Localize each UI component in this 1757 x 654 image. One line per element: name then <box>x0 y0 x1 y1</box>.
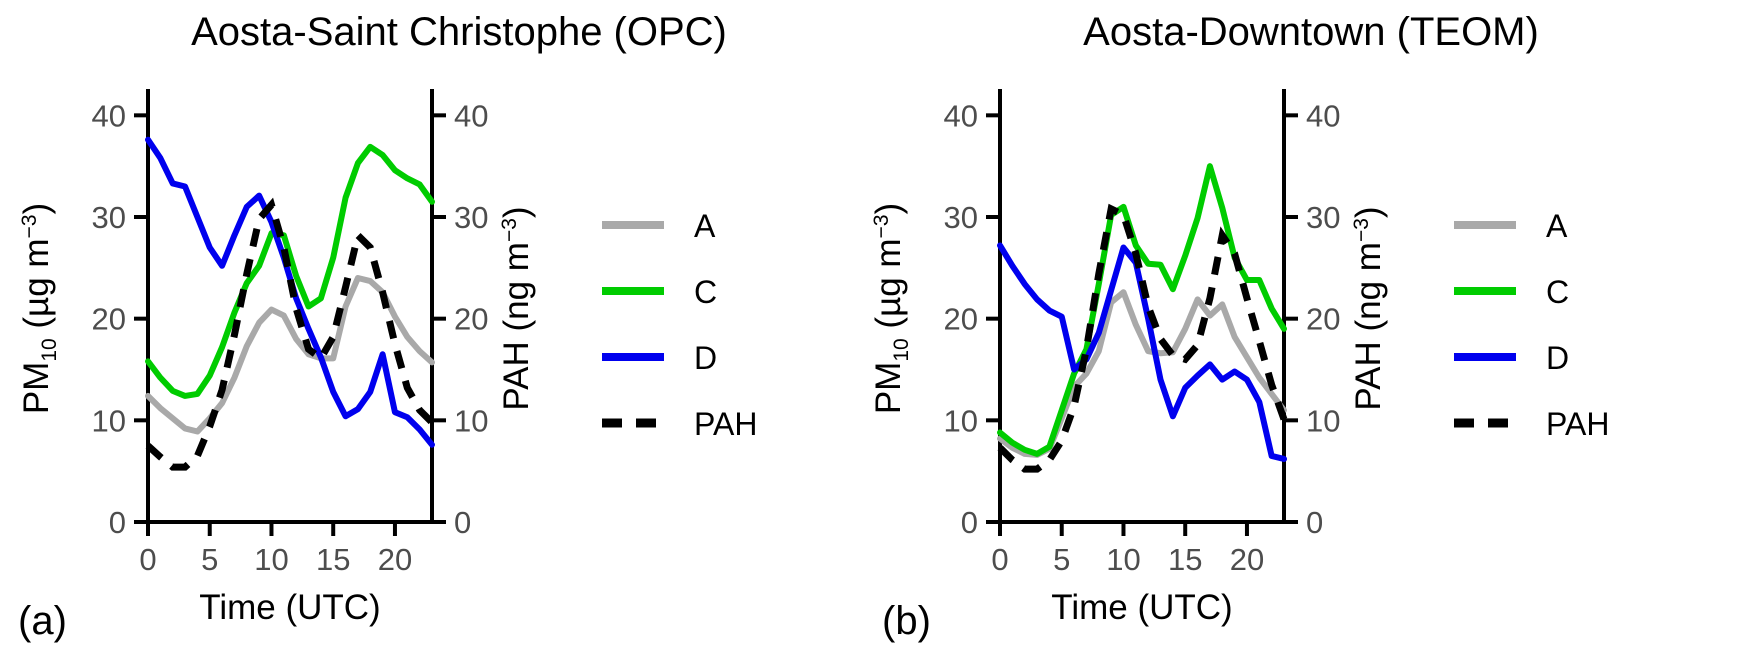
legend-label-A: A <box>1546 208 1568 244</box>
x-tick-label: 10 <box>1106 542 1140 577</box>
x-tick-label: 15 <box>1168 542 1202 577</box>
y-tick-label-right: 40 <box>1306 98 1340 133</box>
x-tick-label: 5 <box>201 542 218 577</box>
x-tick-label: 20 <box>1230 542 1264 577</box>
y-tick-label-right: 10 <box>1306 403 1340 438</box>
y-axis-title-right: PAH (ng m−3) <box>1349 206 1388 410</box>
y-tick-label-right: 0 <box>1306 505 1323 540</box>
y-tick-label-left: 10 <box>92 403 126 438</box>
legend-label-PAH: PAH <box>694 406 757 442</box>
x-tick-label: 0 <box>991 542 1008 577</box>
figure-container: Aosta-Saint Christophe (OPC) (a) 0010102… <box>0 0 1757 654</box>
y-tick-label-left: 30 <box>944 200 978 235</box>
y-tick-label-right: 30 <box>454 200 488 235</box>
x-tick-label: 20 <box>378 542 412 577</box>
panel-a-plot: 00101020203030404005101520Time (UTC)PM10… <box>0 0 878 654</box>
y-tick-label-left: 30 <box>92 200 126 235</box>
y-tick-label-left: 20 <box>92 302 126 337</box>
y-axis-title-right: PAH (ng m−3) <box>497 206 536 410</box>
x-axis-title: Time (UTC) <box>1051 588 1232 627</box>
x-axis-title: Time (UTC) <box>199 588 380 627</box>
y-tick-label-right: 20 <box>1306 302 1340 337</box>
svg-text:PM10 (µg m−3): PM10 (µg m−3) <box>872 203 913 414</box>
y-tick-label-left: 0 <box>961 505 978 540</box>
y-axis-title-left: PM10 (µg m−3) <box>17 203 61 414</box>
legend-label-PAH: PAH <box>1546 406 1609 442</box>
y-tick-label-right: 30 <box>1306 200 1340 235</box>
legend-label-D: D <box>694 340 717 376</box>
y-tick-label-left: 0 <box>109 505 126 540</box>
y-tick-label-right: 10 <box>454 403 488 438</box>
x-tick-label: 5 <box>1053 542 1070 577</box>
series-line-A <box>148 278 432 432</box>
chart-panel-b: Aosta-Downtown (TEOM) (b) 00101020203030… <box>872 0 1750 654</box>
y-tick-label-left: 20 <box>944 302 978 337</box>
legend-label-A: A <box>694 208 716 244</box>
svg-text:PAH (ng m−3): PAH (ng m−3) <box>497 206 536 410</box>
x-tick-label: 10 <box>254 542 288 577</box>
y-tick-label-left: 10 <box>944 403 978 438</box>
y-tick-label-left: 40 <box>92 98 126 133</box>
y-axis-title-left: PM10 (µg m−3) <box>872 203 913 414</box>
legend-label-C: C <box>694 274 717 310</box>
x-tick-label: 15 <box>316 542 350 577</box>
panel-b-plot: 00101020203030404005101520Time (UTC)PM10… <box>872 0 1750 654</box>
legend-label-C: C <box>1546 274 1569 310</box>
svg-text:PAH (ng m−3): PAH (ng m−3) <box>1349 206 1388 410</box>
y-tick-label-left: 40 <box>944 98 978 133</box>
x-tick-label: 0 <box>139 542 156 577</box>
y-tick-label-right: 0 <box>454 505 471 540</box>
y-tick-label-right: 20 <box>454 302 488 337</box>
y-tick-label-right: 40 <box>454 98 488 133</box>
legend-label-D: D <box>1546 340 1569 376</box>
svg-text:PM10 (µg m−3): PM10 (µg m−3) <box>17 203 61 414</box>
chart-panel-a: Aosta-Saint Christophe (OPC) (a) 0010102… <box>0 0 878 654</box>
series-line-C <box>1000 166 1284 454</box>
